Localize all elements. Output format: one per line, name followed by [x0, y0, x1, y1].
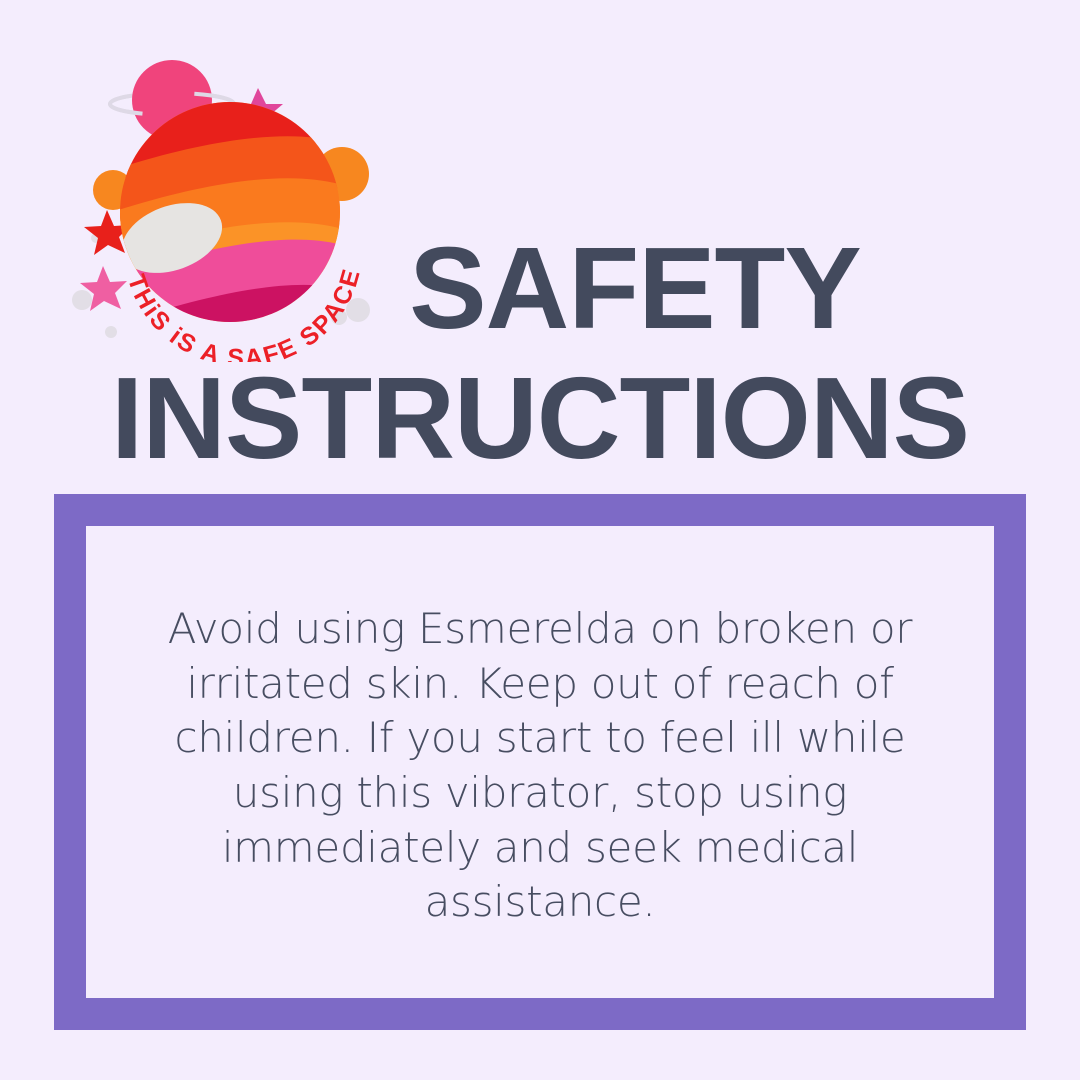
poster-canvas: THiS iS A SAFE SPACE SAFETY INSTRUCTIONS… — [0, 0, 1080, 1080]
title-line-instructions: INSTRUCTIONS — [0, 362, 1080, 476]
title-line-safety: SAFETY — [0, 232, 1080, 346]
safety-instructions-text: Avoid using Esmerelda on broken or irrit… — [134, 602, 946, 930]
safety-instructions-box: Avoid using Esmerelda on broken or irrit… — [54, 494, 1026, 1030]
page-title: SAFETY INSTRUCTIONS — [0, 232, 1080, 475]
safety-instructions-box-inner: Avoid using Esmerelda on broken or irrit… — [86, 526, 994, 998]
